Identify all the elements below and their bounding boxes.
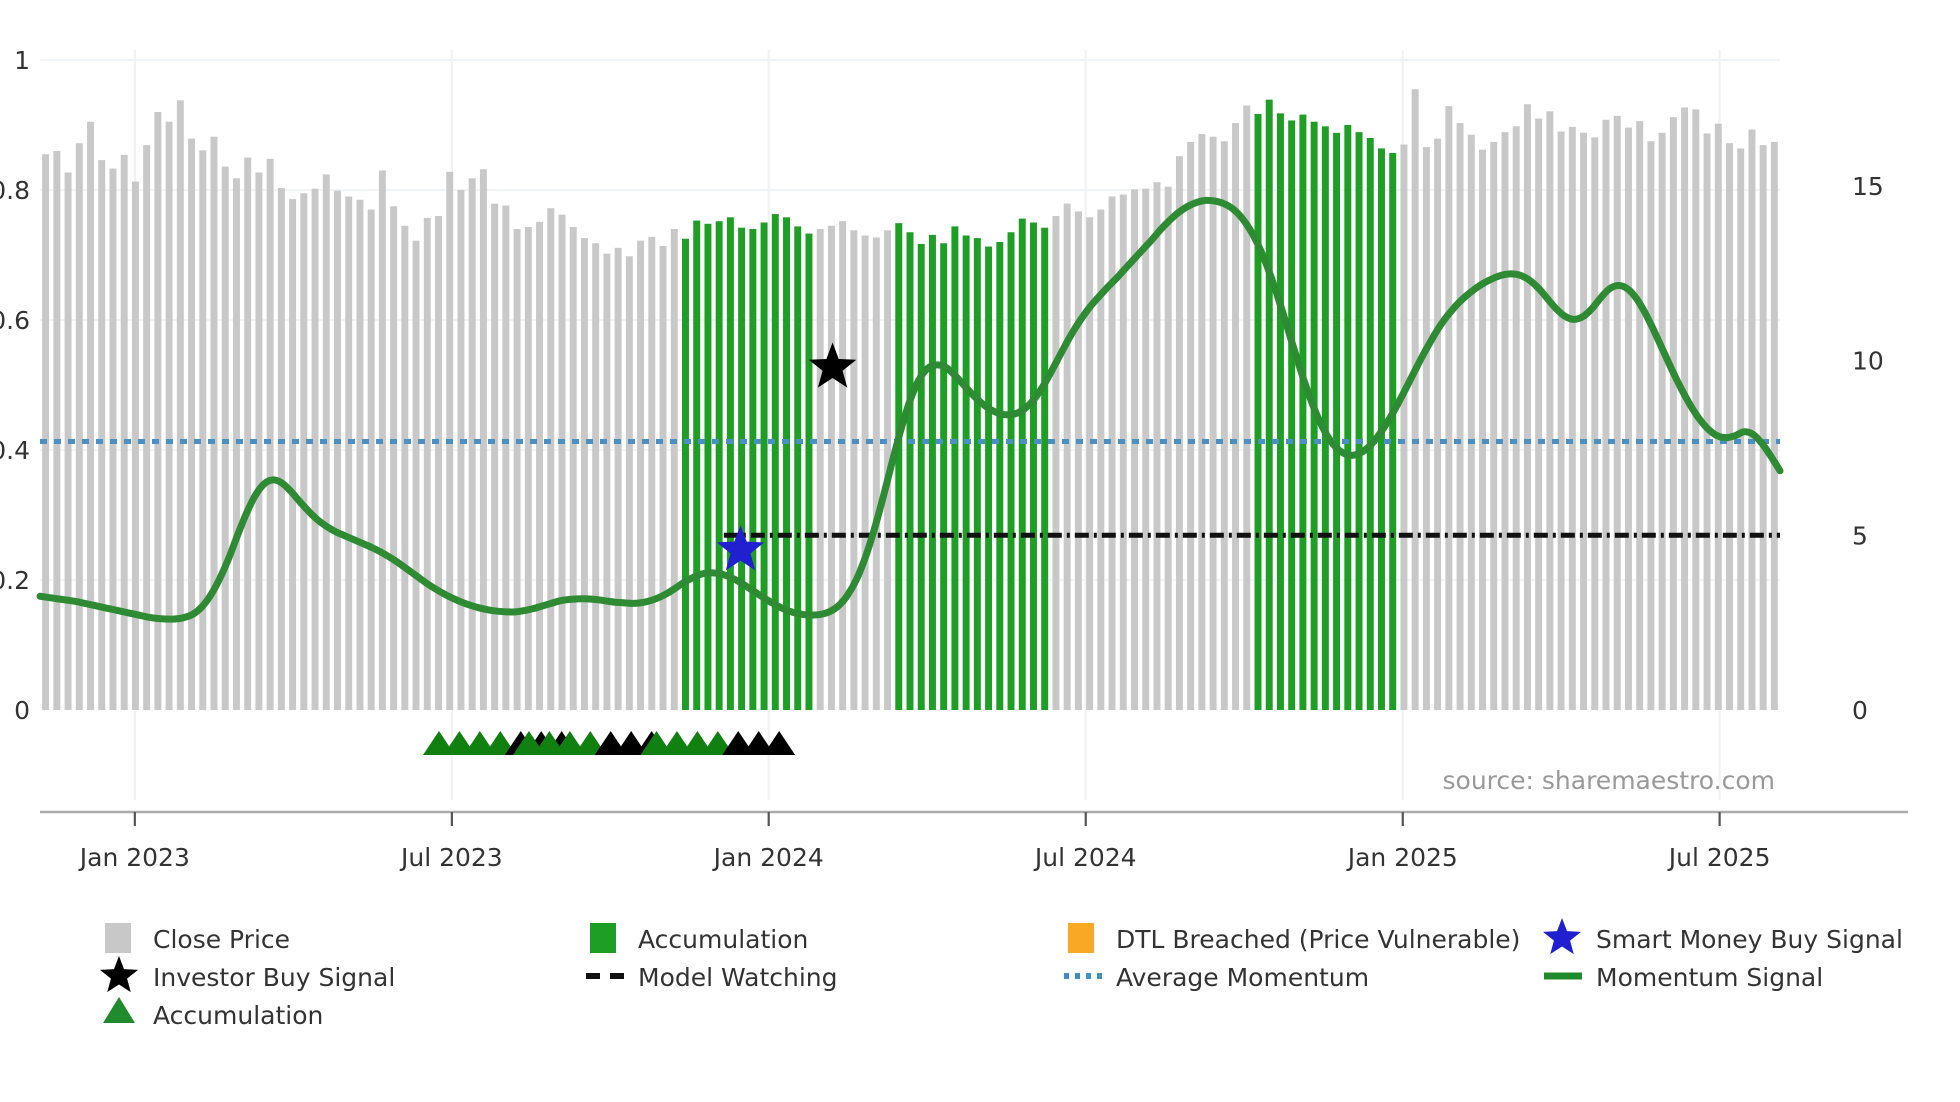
- y-axis-left-tick: 0.8: [0, 176, 30, 205]
- star-icon: [100, 956, 138, 992]
- legend-item-label: DTL Breached (Price Vulnerable): [1116, 925, 1520, 954]
- legend-smart-money-buy-signal[interactable]: Smart Money Buy Signal: [1543, 918, 1903, 954]
- legend-item-label: Average Momentum: [1116, 963, 1369, 992]
- x-axis-tick: Jan 2025: [1346, 843, 1458, 872]
- square-icon: [105, 923, 131, 953]
- star-icon: [1543, 918, 1581, 954]
- triangle-icon: [103, 997, 135, 1023]
- x-axis-tick: Jul 2024: [1033, 843, 1137, 872]
- legend-item-label: Accumulation: [153, 1001, 323, 1030]
- y-axis-left-tick: 1: [14, 46, 30, 75]
- y-axis-left-tick: 0.2: [0, 566, 30, 595]
- legend-average-momentum[interactable]: Average Momentum: [1064, 963, 1369, 992]
- legend-item-label: Accumulation: [638, 925, 808, 954]
- source-attribution: source: sharemaestro.com: [1443, 766, 1776, 795]
- legend-accumulation-bar[interactable]: Accumulation: [590, 923, 808, 954]
- financial-momentum-chart: 00.20.40.60.81051015Jan 2023Jul 2023Jan …: [0, 0, 1960, 1102]
- x-axis-tick: Jul 2025: [1667, 843, 1771, 872]
- legend-close-price[interactable]: Close Price: [105, 923, 290, 954]
- x-axis-tick: Jul 2023: [399, 843, 503, 872]
- axes: [40, 812, 1908, 826]
- y-axis-left-tick: 0: [14, 696, 30, 725]
- chart-root: 00.20.40.60.81051015Jan 2023Jul 2023Jan …: [0, 0, 1960, 1102]
- y-axis-right-tick: 10: [1852, 347, 1884, 376]
- y-axis-right-tick: 15: [1852, 172, 1884, 201]
- legend-accumulation-triangle[interactable]: Accumulation: [103, 997, 323, 1030]
- x-axis-tick: Jan 2024: [712, 843, 824, 872]
- legend-item-label: Close Price: [153, 925, 290, 954]
- x-axis-tick: Jan 2023: [78, 843, 190, 872]
- y-axis-left-tick: 0.6: [0, 306, 30, 335]
- legend-dtl-breached[interactable]: DTL Breached (Price Vulnerable): [1068, 923, 1520, 954]
- legend-item-label: Smart Money Buy Signal: [1596, 925, 1903, 954]
- legend-investor-buy-signal[interactable]: Investor Buy Signal: [100, 956, 395, 992]
- accumulation-triangle-markers: [423, 731, 795, 755]
- square-icon: [590, 923, 616, 953]
- y-axis-right-tick: 0: [1852, 696, 1868, 725]
- legend-item-label: Investor Buy Signal: [153, 963, 395, 992]
- legend-momentum-signal[interactable]: Momentum Signal: [1544, 963, 1823, 992]
- y-axis-left-tick: 0.4: [0, 436, 30, 465]
- y-axis-right-tick: 5: [1852, 521, 1868, 550]
- chart-legend: Close PriceAccumulationDTL Breached (Pri…: [100, 918, 1903, 1030]
- square-icon: [1068, 923, 1094, 953]
- legend-item-label: Model Watching: [638, 963, 838, 992]
- legend-item-label: Momentum Signal: [1596, 963, 1823, 992]
- legend-model-watching[interactable]: Model Watching: [586, 963, 838, 992]
